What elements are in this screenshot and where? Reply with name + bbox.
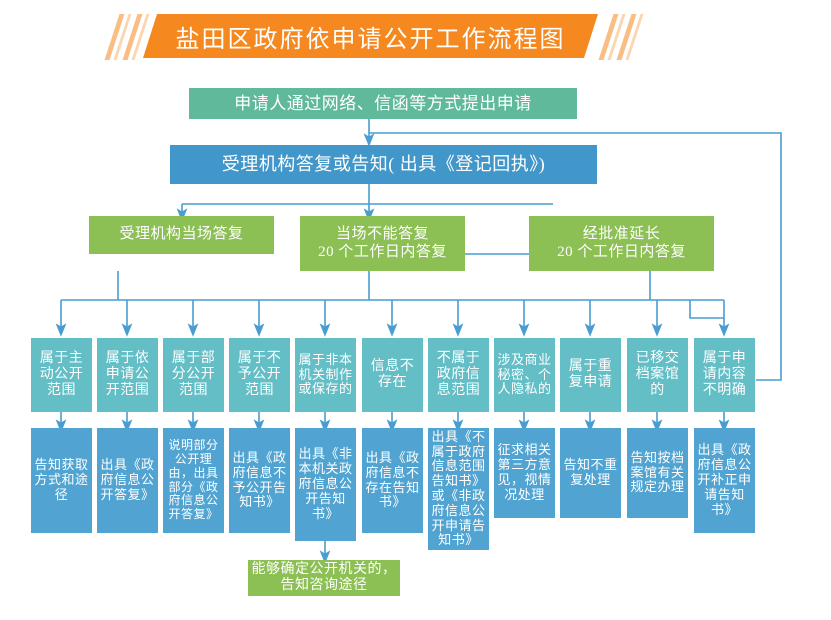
action-consult-third-party[interactable]: 征求相关第三方意见，视情况处理 xyxy=(494,428,555,518)
branch-onsite-reply[interactable]: 受理机构当场答复 xyxy=(89,216,274,254)
condition-non-disclosure[interactable]: 属于不予公开范围 xyxy=(229,338,290,412)
condition-proactive-disclosure[interactable]: 属于主动公开范围 xyxy=(31,338,92,412)
action-issue-disclosure-reply[interactable]: 出具《政府信息公开答复》 xyxy=(97,428,158,533)
condition-partial-disclosure[interactable]: 属于部分公开范围 xyxy=(163,338,224,412)
title-banner-wrap: 盐田区政府依申请公开工作流程图 xyxy=(0,14,831,68)
condition-repeat-request[interactable]: 属于重复申请 xyxy=(560,338,621,412)
condition-on-request-disclosure[interactable]: 属于依申请公开范围 xyxy=(97,338,158,412)
action-issue-not-gov-info-notice[interactable]: 出具《不属于政府信息范围告知书》或《非政府信息公开申请告知书》 xyxy=(428,428,489,550)
note-identifiable-agency-inform-channel[interactable]: 能够确定公开机关的，告知咨询途径 xyxy=(248,560,400,596)
action-issue-non-disclosure-notice[interactable]: 出具《政府信息不予公开告知书》 xyxy=(229,428,290,533)
condition-transferred-to-archive[interactable]: 已移交档案馆的 xyxy=(627,338,688,412)
condition-not-government-info[interactable]: 不属于政府信息范围 xyxy=(428,338,489,412)
action-issue-not-exist-notice[interactable]: 出具《政府信息不存在告知书》 xyxy=(362,428,423,533)
action-inform-access-method[interactable]: 告知获取方式和途径 xyxy=(31,428,92,533)
action-inform-no-repeat-handling[interactable]: 告知不重复处理 xyxy=(560,428,621,518)
flowchart-canvas: 盐田区政府依申请公开工作流程图 申请人通过网络、信函等方式提出申请 受理机构答复… xyxy=(0,0,831,620)
action-issue-non-agency-notice[interactable]: 出具《非本机关政府信息公开告知书》 xyxy=(295,428,356,541)
step-submit-application[interactable]: 申请人通过网络、信函等方式提出申请 xyxy=(189,88,577,119)
action-issue-supplement-notice[interactable]: 出具《政府信息公开补正申请告知书》 xyxy=(694,428,755,533)
action-inform-archive-rules[interactable]: 告知按档案馆有关规定办理 xyxy=(627,428,688,518)
condition-info-not-exist[interactable]: 信息不存在 xyxy=(362,338,423,412)
page-title: 盐田区政府依申请公开工作流程图 xyxy=(143,14,598,58)
branch-reply-within-20-days[interactable]: 当场不能答复 20 个工作日内答复 xyxy=(300,216,465,271)
action-explain-partial-disclosure[interactable]: 说明部分公开理由，出具部分《政府信息公开答复》 xyxy=(163,428,224,533)
condition-request-content-unclear[interactable]: 属于申请内容不明确 xyxy=(694,338,755,412)
branch-extended-20-days[interactable]: 经批准延长 20 个工作日内答复 xyxy=(529,216,714,271)
condition-not-created-by-agency[interactable]: 属于非本机关制作或保存的 xyxy=(295,338,356,412)
step-agency-reply-or-notify[interactable]: 受理机构答复或告知( 出具《登记回执》) xyxy=(170,145,597,184)
condition-trade-secret-or-privacy[interactable]: 涉及商业秘密、个人隐私的 xyxy=(494,338,555,412)
